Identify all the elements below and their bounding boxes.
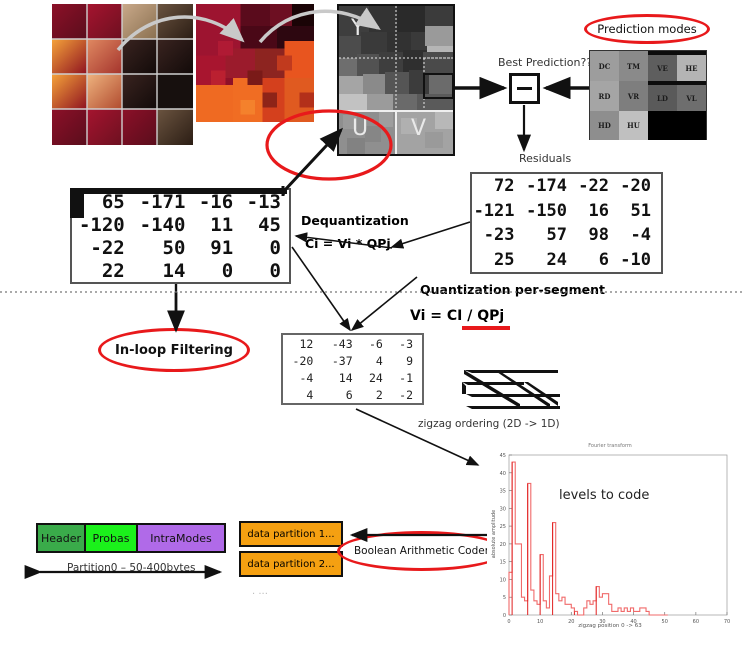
pred-mode-hu: HU	[619, 111, 648, 140]
partition0-bar: Header Probas IntraModes	[36, 523, 226, 553]
pred-mode-ve: VE	[648, 55, 677, 81]
v-plane-label: V	[411, 116, 426, 141]
zigzag-scan-icon	[458, 364, 564, 412]
arrow-coeffs-to-u	[283, 130, 341, 195]
pred-mode-empty	[648, 111, 706, 140]
svg-text:0: 0	[503, 613, 506, 619]
table-row: 12 -43 -6 -3	[283, 335, 422, 352]
minus-icon	[517, 87, 532, 90]
chart-xlabel: zigzag position 0 -> 63	[487, 623, 733, 629]
levels-to-code-chart: Fourier transform levels to code absolut…	[487, 443, 733, 636]
residuals-matrix: 72 -174 -22 -20 -121 -150 16 51 -23 57 9…	[470, 172, 663, 274]
svg-text:10: 10	[500, 577, 506, 583]
quant-formula: Vi = CI / QPj	[410, 308, 504, 324]
table-row: 4 6 2 -2	[283, 386, 422, 403]
svg-text:20: 20	[500, 542, 506, 548]
prediction-modes-grid: DC TM VE HE RD VR LD VL HD HU	[589, 50, 707, 140]
chart-plot-area: 010203040506070051015202530354045	[487, 443, 733, 636]
dequantization-label: Dequantization	[301, 213, 409, 228]
prediction-modes-ellipse: Prediction modes	[584, 14, 710, 44]
table-row: -121 -150 16 51	[472, 199, 661, 224]
arrow-quantformula-to-quantized	[352, 277, 417, 330]
boolean-arithmetic-coder-ellipse: Boolean Arithmetic Coder	[337, 531, 506, 571]
svg-text:45: 45	[500, 453, 506, 459]
svg-text:15: 15	[500, 560, 506, 566]
svg-text:30: 30	[500, 506, 506, 512]
table-row: -23 57 98 -4	[472, 223, 661, 248]
zigzag-ordering-label: zigzag ordering (2D -> 1D)	[418, 418, 560, 430]
bitstream-block-header[interactable]: Header	[38, 525, 86, 551]
quantization-label: Quantization per-segment	[420, 282, 605, 297]
chart-annotation: levels to code	[559, 488, 649, 503]
coefficients-matrix: 65 -171 -16 -13 -120 -140 11 45 -22 50 9…	[70, 188, 291, 284]
svg-text:25: 25	[500, 524, 506, 530]
pred-mode-vl: VL	[677, 85, 706, 111]
table-row: -20 -37 4 9	[283, 352, 422, 369]
svg-text:5: 5	[503, 595, 506, 601]
table-row: 25 24 6 -10	[472, 248, 661, 273]
partition0-caption: Partition0 – 50-400bytes	[67, 562, 195, 574]
best-prediction-label: Best Prediction???	[498, 56, 598, 69]
subtract-operator-box	[509, 73, 540, 104]
pred-mode-rd: RD	[590, 81, 619, 111]
table-row: -22 50 91 0	[72, 236, 289, 259]
table-row: 22 14 0 0	[72, 259, 289, 282]
pred-mode-dc: DC	[590, 51, 619, 81]
inloop-filtering-label: In-loop Filtering	[115, 343, 233, 358]
table-row: 72 -174 -22 -20	[472, 174, 661, 199]
data-partition-2[interactable]: data partition 2...	[239, 551, 343, 577]
bitstream-block-intramodes[interactable]: IntraModes	[138, 525, 224, 551]
pred-mode-vr: VR	[619, 81, 648, 111]
quantized-matrix: 12 -43 -6 -3 -20 -37 4 9 -4 14 24 -1 4 6…	[281, 333, 424, 405]
inloop-filtering-ellipse: In-loop Filtering	[98, 328, 250, 372]
macroblock-grid-photo	[52, 4, 193, 145]
pred-mode-he: HE	[677, 55, 706, 81]
data-partition-1[interactable]: data partition 1...	[239, 521, 343, 547]
table-row: -4 14 24 -1	[283, 369, 422, 386]
prediction-modes-label: Prediction modes	[597, 22, 696, 36]
residuals-caption: Residuals	[519, 152, 571, 165]
svg-text:40: 40	[500, 471, 506, 477]
yuv-planes-block: Y U V	[337, 4, 455, 156]
pred-mode-ld: LD	[648, 85, 677, 111]
svg-text:35: 35	[500, 489, 506, 495]
pred-mode-tm: TM	[619, 51, 648, 81]
table-row: -120 -140 11 45	[72, 213, 289, 236]
bitstream-block-probas[interactable]: Probas	[86, 525, 138, 551]
arrow-coeffs-to-quantized	[292, 247, 350, 330]
chart-title: Fourier transform	[487, 443, 733, 449]
zoomed-macroblock-photo	[196, 4, 314, 122]
u-plane-label: U	[352, 116, 368, 141]
chart-ylabel: absolute amplitude	[491, 499, 497, 569]
data-partition-ellipsis: . ...	[252, 586, 268, 597]
pred-mode-hd: HD	[590, 111, 619, 140]
dequant-formula: Ci = Vi * QPj	[305, 236, 391, 251]
quant-formula-underline	[462, 326, 510, 330]
boolean-arithmetic-coder-label: Boolean Arithmetic Coder	[354, 545, 489, 557]
table-row: 65 -171 -16 -13	[72, 190, 289, 213]
y-plane-label: Y	[351, 16, 364, 41]
